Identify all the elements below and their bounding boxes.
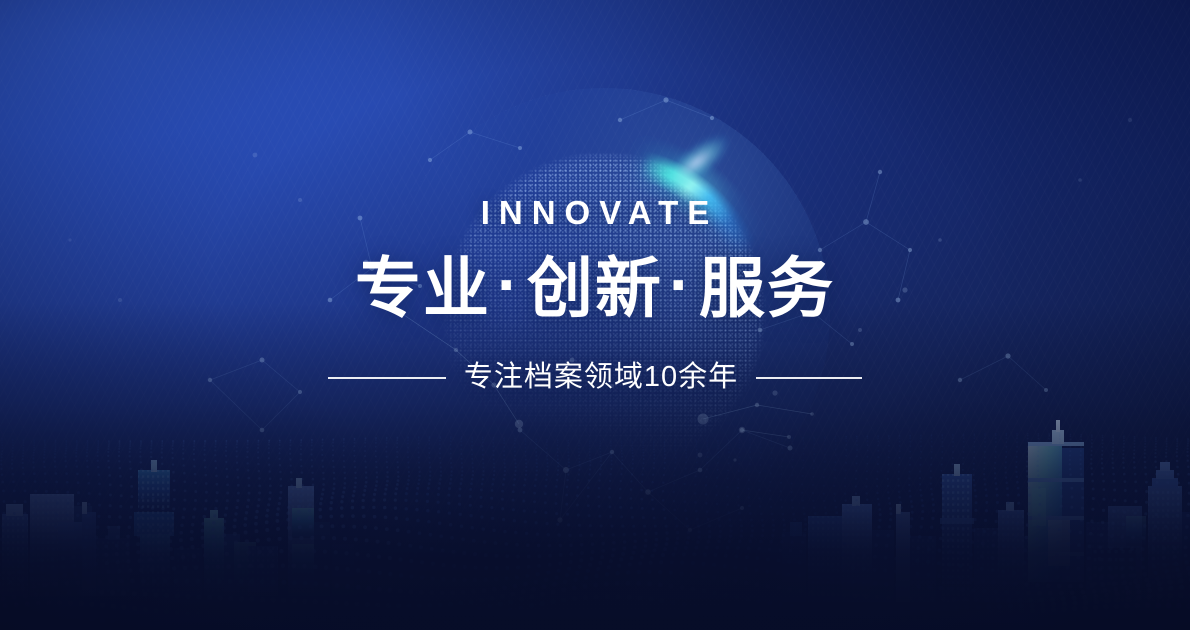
subtitle-row: 专注档案领域10余年	[0, 362, 1190, 394]
headline-separator-2: ·	[663, 246, 699, 323]
headline-separator-1: ·	[491, 246, 527, 323]
headline-part-3: 服务	[699, 251, 835, 325]
page-title: 专业·创新·服务	[0, 250, 1190, 327]
subtitle-text: 专注档案领域10余年	[464, 362, 738, 394]
headline-part-2: 创新	[527, 251, 663, 325]
divider-right	[756, 377, 862, 379]
divider-left	[328, 377, 446, 379]
eyebrow-text: INNOVATE	[0, 196, 1190, 229]
hero-banner: INNOVATE 专业·创新·服务 专注档案领域10余年	[0, 0, 1190, 630]
headline-part-1: 专业	[355, 251, 491, 325]
